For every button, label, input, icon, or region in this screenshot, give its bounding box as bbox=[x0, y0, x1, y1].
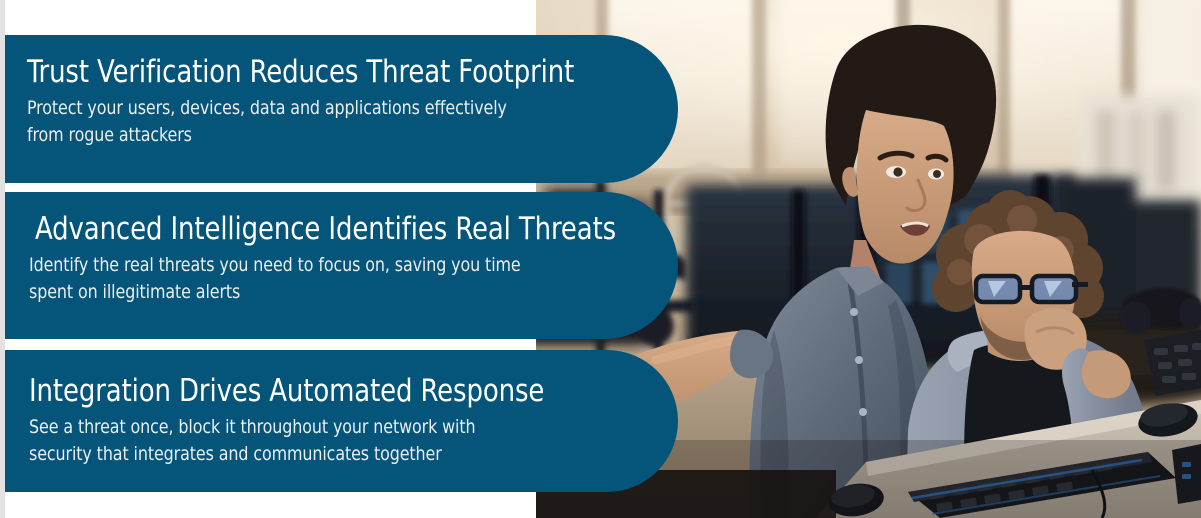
feature-card-2-title: Advanced Intelligence Identifies Real Th… bbox=[35, 210, 521, 248]
feature-card-1: Trust Verification Reduces Threat Footpr… bbox=[5, 35, 678, 183]
feature-card-3-description: See a threat once, block it throughout y… bbox=[29, 414, 521, 468]
feature-card-3: Integration Drives Automated Response Se… bbox=[5, 350, 678, 492]
feature-card-3-title: Integration Drives Automated Response bbox=[29, 372, 521, 410]
feature-card-2-description: Identify the real threats you need to fo… bbox=[29, 252, 521, 306]
feature-card-2: Advanced Intelligence Identifies Real Th… bbox=[5, 192, 678, 339]
feature-card-1-title: Trust Verification Reduces Threat Footpr… bbox=[27, 53, 521, 91]
promo-banner: Trust Verification Reduces Threat Footpr… bbox=[0, 0, 1201, 518]
feature-card-1-description: Protect your users, devices, data and ap… bbox=[27, 95, 521, 149]
